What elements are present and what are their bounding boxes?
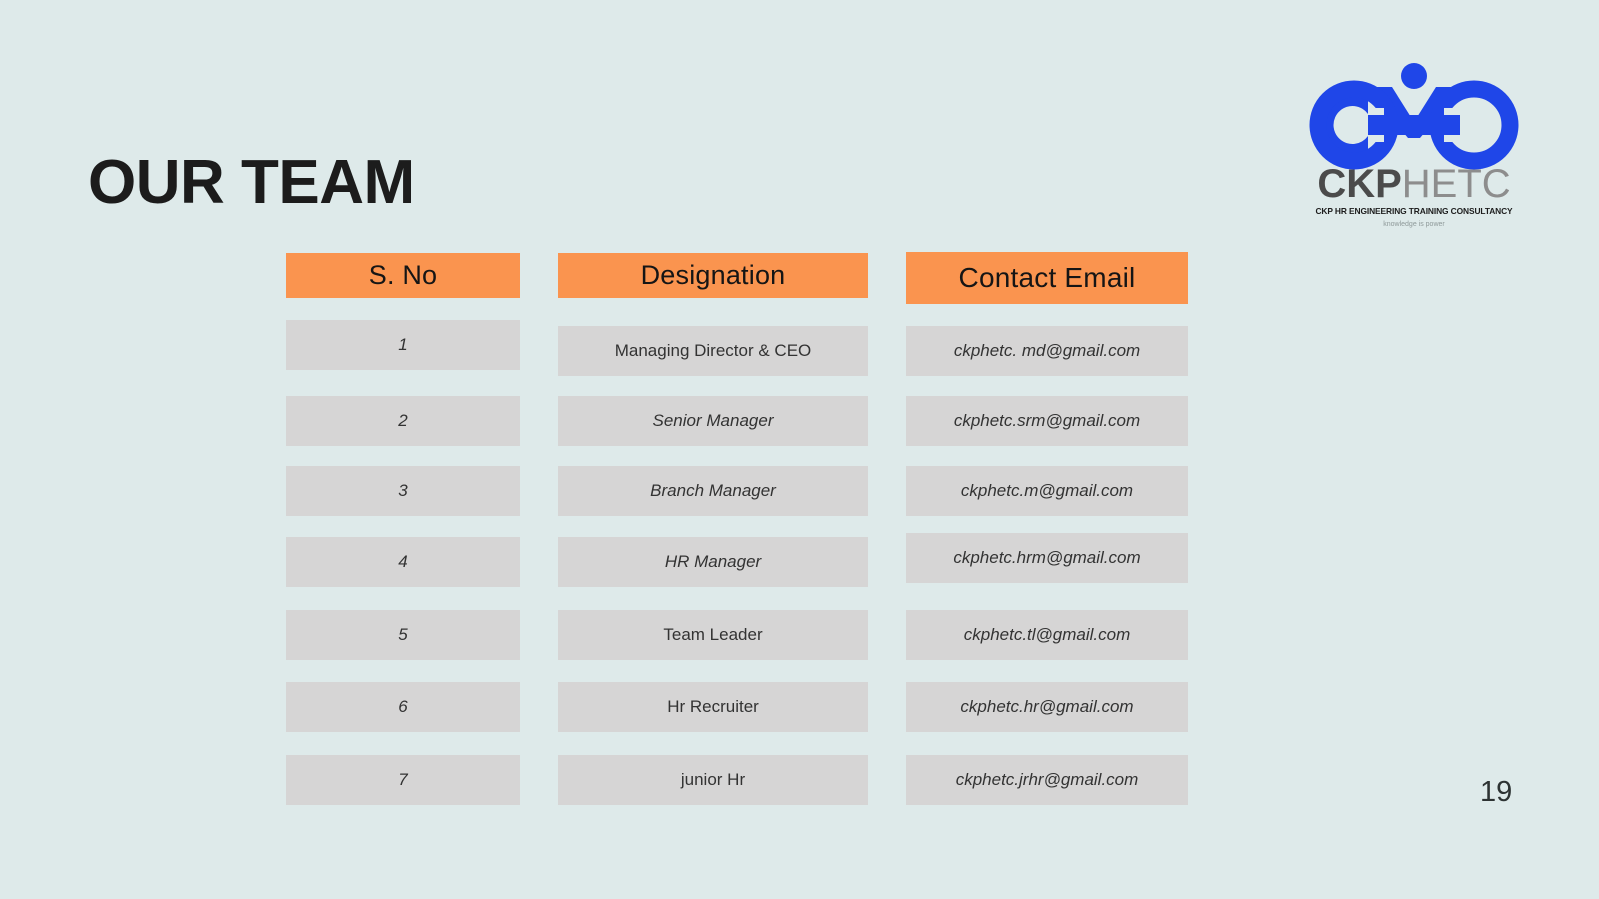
table-row: junior Hr xyxy=(558,755,868,805)
table-row: 4 xyxy=(286,537,520,587)
table-row: Team Leader xyxy=(558,610,868,660)
table-row: ckphetc.hr@gmail.com xyxy=(906,682,1188,732)
table-row: Managing Director & CEO xyxy=(558,326,868,376)
table-row: 7 xyxy=(286,755,520,805)
table-row: 3 xyxy=(286,466,520,516)
page-number: 19 xyxy=(1480,776,1512,809)
table-row: ckphetc.srm@gmail.com xyxy=(906,396,1188,446)
team-table: S. No Designation Contact Email 1 Managi… xyxy=(0,0,1599,899)
table-header-sno: S. No xyxy=(286,253,520,298)
table-row: 6 xyxy=(286,682,520,732)
table-row: ckphetc.m@gmail.com xyxy=(906,466,1188,516)
table-row: Hr Recruiter xyxy=(558,682,868,732)
table-row: Senior Manager xyxy=(558,396,868,446)
table-header-contact-email: Contact Email xyxy=(906,252,1188,304)
table-row: ckphetc.tl@gmail.com xyxy=(906,610,1188,660)
table-row: ckphetc.hrm@gmail.com xyxy=(906,533,1188,583)
table-header-designation: Designation xyxy=(558,253,868,298)
table-row: ckphetc. md@gmail.com xyxy=(906,326,1188,376)
table-row: Branch Manager xyxy=(558,466,868,516)
slide-canvas: OUR TEAM CKPHETC CKP HR ENGINEERING TRAI… xyxy=(0,0,1599,899)
table-row: HR Manager xyxy=(558,537,868,587)
table-row: 5 xyxy=(286,610,520,660)
table-row: ckphetc.jrhr@gmail.com xyxy=(906,755,1188,805)
table-row: 1 xyxy=(286,320,520,370)
table-row: 2 xyxy=(286,396,520,446)
